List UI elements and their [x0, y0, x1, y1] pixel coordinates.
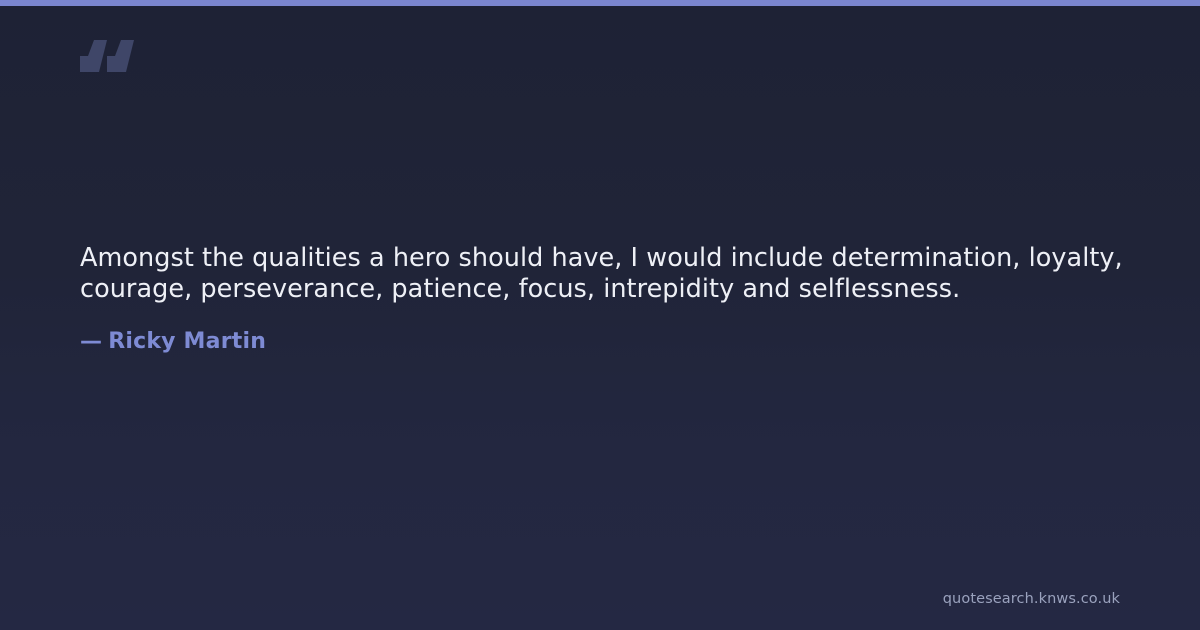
quote-body: Amongst the qualities a hero should have… [80, 243, 1125, 356]
author-name: Ricky Martin [108, 329, 266, 354]
source-url: quotesearch.knws.co.uk [943, 590, 1120, 608]
quote-text: Amongst the qualities a hero should have… [80, 243, 1125, 305]
top-accent-bar [0, 0, 1200, 6]
author-dash: — [80, 328, 102, 356]
quote-author: —Ricky Martin [80, 305, 1125, 356]
double-quote-open-icon [80, 32, 140, 88]
quote-card: Amongst the qualities a hero should have… [0, 0, 1200, 630]
